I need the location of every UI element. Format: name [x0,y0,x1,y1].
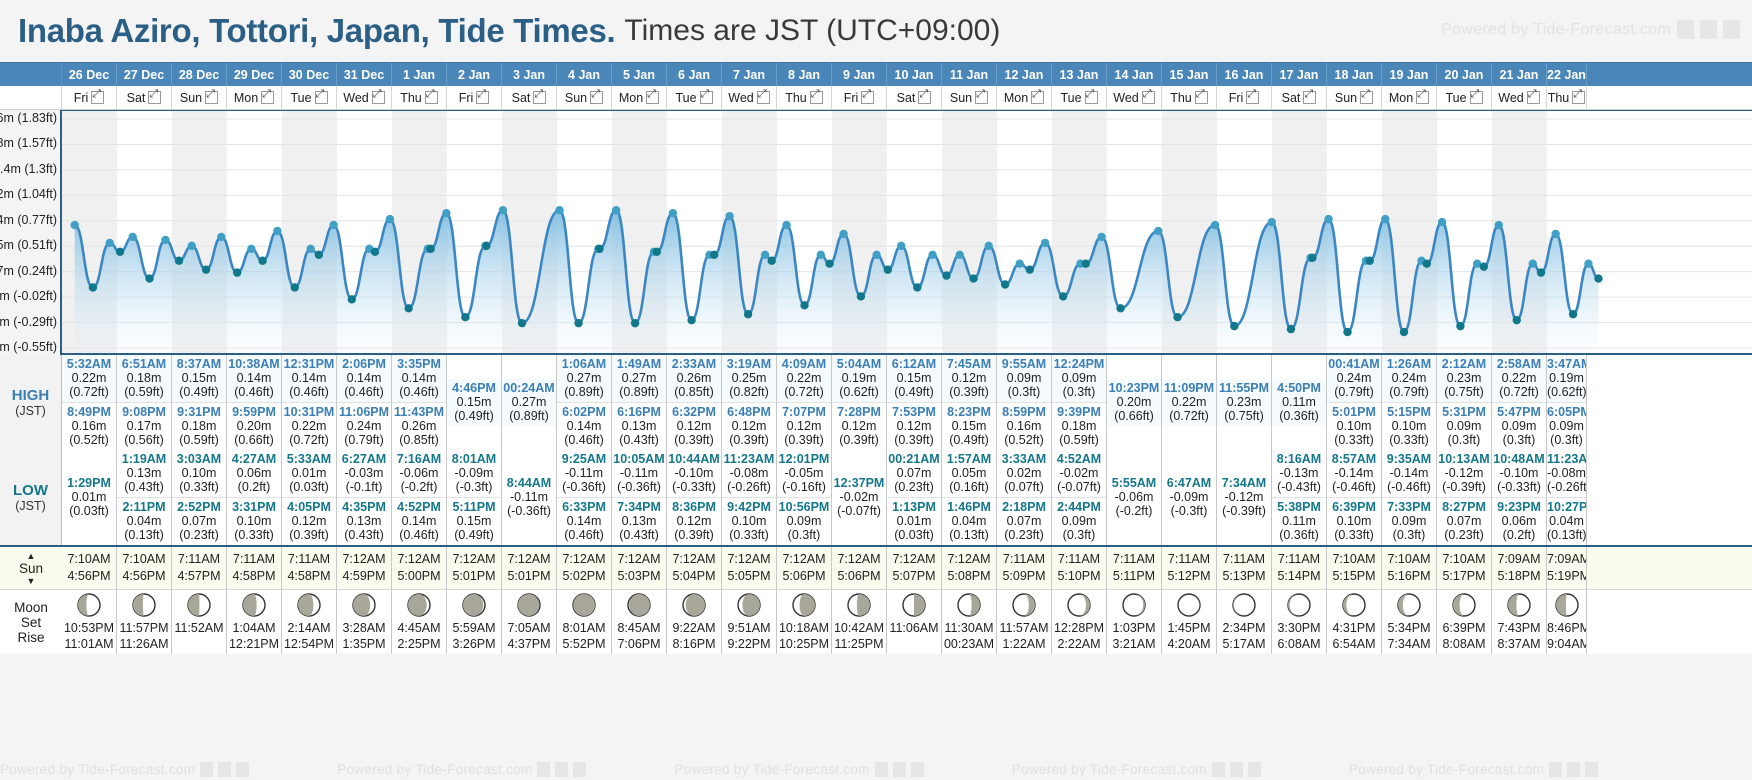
low-tide-event: 3:33AM 0.02m (0.07ft) [997,450,1051,497]
high-tide-event: 00:24AM 0.27m (0.89ft) [502,379,556,426]
high-tide-feet: (0.46ft) [557,433,611,447]
low-tide-event: 8:27PM 0.07m (0.23ft) [1437,497,1491,545]
date-cell[interactable]: 12 Jan [997,63,1052,86]
sunset-time: 5:04PM [667,568,721,585]
moonset-time: 9:22AM [667,620,721,636]
expand-icon[interactable] [1246,91,1259,104]
low-tide-column: 11:23AM -0.08m (-0.26ft)9:42PM 0.10m (0.… [722,450,777,545]
low-tide-time: 9:42PM [722,500,776,514]
high-tide-meters: 0.15m [447,395,501,409]
date-cell[interactable]: 18 Jan [1327,63,1382,86]
low-tide-meters: 0.09m [1052,514,1106,528]
high-tide-column: 1:26AM 0.24m (0.79ft)5:15PM 0.10m (0.33f… [1382,355,1437,450]
high-tide-meters: 0.14m [227,371,281,385]
sun-cell: 7:11AM5:11PM [1107,547,1162,589]
high-tide-meters: 0.09m [1547,419,1586,433]
low-tide-time: 3:03AM [172,452,226,466]
high-tide-time: 6:02PM [557,405,611,419]
low-tide-time: 11:23AM [722,452,776,466]
high-tide-column: 3:35PM 0.14m (0.46ft)11:43PM 0.26m (0.85… [392,355,447,450]
moon-phase-wrap [447,590,501,620]
low-tide-feet: (-0.46ft) [1327,480,1381,494]
date-cell[interactable]: 6 Jan [667,63,722,86]
moon-phase-icon [1176,592,1202,618]
low-tide-event: 7:34AM -0.12m (-0.39ft) [1217,474,1271,521]
low-tide-meters: 0.12m [282,514,336,528]
weekday-cell: Tue [1052,86,1107,109]
expand-icon[interactable] [1195,91,1208,104]
date-cell[interactable]: 11 Jan [942,63,997,86]
moonset-time: 7:05AM [502,620,556,636]
weekday-label: Tue [1445,91,1466,105]
low-tide-meters: -0.05m [777,466,831,480]
low-tide-column: 4:27AM 0.06m (0.2ft)3:31PM 0.10m (0.33ft… [227,450,282,545]
weekday-label: Mon [1389,91,1413,105]
weekday-cell: Wed [722,86,777,109]
date-cell[interactable]: 5 Jan [612,63,667,86]
low-tide-feet: (0.3ft) [1382,528,1436,542]
high-tide-section: HIGH (JST) 5:32AM 0.22m (0.72ft)8:49PM 0… [0,355,1752,450]
weekday-label: Fri [459,91,474,105]
sunset-time: 5:12PM [1162,568,1216,585]
date-cell[interactable]: 13 Jan [1052,63,1107,86]
low-tide-column: 00:21AM 0.07m (0.23ft)1:13PM 0.01m (0.03… [887,450,942,545]
expand-icon[interactable] [757,91,770,104]
weekday-cell: Mon [1382,86,1437,109]
weekday-cell: Tue [282,86,337,109]
expand-icon[interactable] [1572,91,1585,104]
low-tide-feet: (-0.33ft) [667,480,721,494]
high-tide-meters: 0.16m [997,419,1051,433]
moon-phase-icon [956,592,982,618]
high-tide-meters: 0.26m [667,371,721,385]
high-tide-feet: (0.72ft) [62,385,116,399]
date-cell[interactable]: 30 Dec [282,63,337,86]
expand-icon[interactable] [700,91,713,104]
expand-icon[interactable] [1470,91,1483,104]
sunrise-time: 7:12AM [667,551,721,568]
date-header-row: 26 Dec27 Dec28 Dec29 Dec30 Dec31 Dec1 Ja… [0,62,1752,86]
expand-icon[interactable] [1303,91,1316,104]
high-tide-time: 11:06PM [337,405,391,419]
low-tide-meters: 0.10m [722,514,776,528]
date-cell[interactable]: 27 Dec [117,63,172,86]
watermark-footer: Powered by Tide-Forecast.com Powered by … [0,758,1752,780]
high-tide-time: 10:23PM [1107,381,1161,395]
expand-icon[interactable] [861,91,874,104]
moon-phase-wrap [1272,590,1326,620]
weekday-label: Wed [1498,91,1523,105]
low-tide-column: 7:16AM -0.06m (-0.2ft)4:52PM 0.14m (0.46… [392,450,447,545]
low-tide-column: 9:35AM -0.14m (-0.46ft)7:33PM 0.09m (0.3… [1382,450,1437,545]
high-tide-meters: 0.09m [997,371,1051,385]
moon-phase-icon [846,592,872,618]
low-tide-column: 8:44AM -0.11m (-0.36ft) [502,450,557,545]
date-cell[interactable]: 26 Dec [62,63,117,86]
moon-cell: 11:52AM [172,590,227,654]
expand-icon[interactable] [372,91,385,104]
sunset-time: 5:07PM [887,568,941,585]
low-tide-meters: 0.10m [172,466,226,480]
moonrise-time: 1:35PM [337,636,391,652]
watermark-icon-2 [1700,20,1717,39]
high-tide-meters: 0.16m [62,419,116,433]
moonset-time: 5:59AM [447,620,501,636]
date-cell[interactable]: 19 Jan [1382,63,1437,86]
expand-icon[interactable] [1031,91,1044,104]
moonrise-time: 2:25PM [392,636,446,652]
moon-phase-wrap [997,590,1051,620]
moonrise-time: 2:22AM [1052,636,1106,652]
date-cell[interactable]: 4 Jan [557,63,612,86]
sun-label: Sun [0,547,62,589]
moon-phase-icon [76,592,102,618]
sunrise-time: 7:11AM [1107,551,1161,568]
low-tide-time: 4:27AM [227,452,281,466]
sunrise-time: 7:12AM [832,551,886,568]
moonset-time: 1:45PM [1162,620,1216,636]
weekday-cell: Mon [612,86,667,109]
high-tide-time: 8:37AM [172,357,226,371]
low-tide-event: 5:55AM -0.06m (-0.2ft) [1107,474,1161,521]
date-cell[interactable]: 10 Jan [887,63,942,86]
moon-label-text: Moon [14,600,48,615]
expand-icon[interactable] [810,91,823,104]
expand-icon[interactable] [91,91,104,104]
low-tide-time: 4:52AM [1052,452,1106,466]
date-cell[interactable]: 20 Jan [1437,63,1492,86]
low-tide-event: 1:19AM 0.13m (0.43ft) [117,450,171,497]
sunrise-time: 7:10AM [62,551,116,568]
sun-cell: 7:12AM5:04PM [667,547,722,589]
moon-phase-wrap [1547,590,1586,620]
low-tide-column: 1:19AM 0.13m (0.43ft)2:11PM 0.04m (0.13f… [117,450,172,545]
expand-icon[interactable] [646,91,659,104]
moonset-time: 12:28PM [1052,620,1106,636]
moonset-time: 10:53PM [62,620,116,636]
low-tide-time: 11:23AM [1547,452,1586,466]
date-cell[interactable]: 8 Jan [777,63,832,86]
moon-columns: 10:53PM 11:01AM 11:57PM 11:26AM 11:52AM … [62,590,1752,654]
moon-phase-icon [791,592,817,618]
moon-phase-wrap [722,590,776,620]
low-tide-meters: -0.02m [832,490,886,504]
sunrise-time: 7:09AM [1492,551,1546,568]
sunset-time: 5:01PM [447,568,501,585]
low-tide-time: 2:11PM [117,500,171,514]
low-tide-meters: -0.06m [392,466,446,480]
moon-cell: 11:06AM [887,590,942,654]
moon-cell: 9:51AM 9:22PM [722,590,777,654]
low-tide-feet: (-0.26ft) [1547,480,1586,494]
sun-cell: 7:12AM5:08PM [942,547,997,589]
high-tide-meters: 0.18m [172,419,226,433]
low-tide-feet: (0.23ft) [887,480,941,494]
low-tide-meters: -0.11m [557,466,611,480]
high-tide-meters: 0.22m [1162,395,1216,409]
high-tide-time: 5:32AM [62,357,116,371]
y-axis-tick: -0.09m (-0.29ft) [0,315,57,329]
moon-phase-wrap [557,590,611,620]
low-tide-event: 10:44AM -0.10m (-0.33ft) [667,450,721,497]
low-tide-meters: 0.15m [447,514,501,528]
moonrise-time: 10:25PM [777,636,831,652]
low-tide-feet: (0.46ft) [557,528,611,542]
expand-icon[interactable] [1085,91,1098,104]
high-tide-feet: (0.49ft) [447,409,501,423]
moonrise-time: 7:06PM [612,636,666,652]
moon-phase-wrap [117,590,171,620]
low-tide-event: 11:23AM -0.08m (-0.26ft) [1547,450,1586,497]
low-tide-feet: (-0.16ft) [777,480,831,494]
high-tide-time: 9:31PM [172,405,226,419]
moonset-label-text: Set [21,615,41,630]
sun-cell: 7:11AM4:57PM [172,547,227,589]
expand-icon[interactable] [1527,91,1540,104]
weekday-cell: Fri [62,86,117,109]
sun-cell: 7:12AM5:06PM [777,547,832,589]
moonrise-time: 6:54AM [1327,636,1381,652]
moon-phase-wrap [392,590,446,620]
high-tide-event: 6:48PM 0.12m (0.39ft) [722,402,776,450]
high-tide-event: 3:19AM 0.25m (0.82ft) [722,355,776,402]
high-tide-time: 4:46PM [447,381,501,395]
weekday-cell: Mon [997,86,1052,109]
high-tide-feet: (0.46ft) [227,385,281,399]
expand-icon[interactable] [1416,91,1429,104]
sun-cell: 7:12AM5:02PM [557,547,612,589]
high-tide-feet: (0.75ft) [1437,385,1491,399]
high-tide-time: 1:06AM [557,357,611,371]
low-tide-event: 8:57AM -0.14m (-0.46ft) [1327,450,1381,497]
high-tide-feet: (0.39ft) [887,433,941,447]
date-cell[interactable]: 14 Jan [1107,63,1162,86]
expand-icon[interactable] [533,91,546,104]
low-tide-event: 9:35AM -0.14m (-0.46ft) [1382,450,1436,497]
low-tide-event: 12:37PM -0.02m (-0.07ft) [832,474,886,521]
high-tide-column: 00:41AM 0.24m (0.79ft)5:01PM 0.10m (0.33… [1327,355,1382,450]
moon-label: Moon Set Rise [0,590,62,654]
high-tide-feet: (0.72ft) [282,433,336,447]
moon-cell: 3:30PM 6:08AM [1272,590,1327,654]
weekday-label: Sat [512,91,531,105]
low-tide-event: 4:52AM -0.02m (-0.07ft) [1052,450,1106,497]
date-header-corner [0,63,62,86]
high-tide-columns: 5:32AM 0.22m (0.72ft)8:49PM 0.16m (0.52f… [62,355,1752,450]
date-cell[interactable]: 2 Jan [447,63,502,86]
date-cell[interactable]: 28 Dec [172,63,227,86]
low-tide-meters: 0.05m [942,466,996,480]
high-tide-event: 5:04AM 0.19m (0.62ft) [832,355,886,402]
high-tide-time: 6:48PM [722,405,776,419]
expand-icon[interactable] [148,91,161,104]
wm-f4: Powered by Tide-Forecast.com [1012,762,1207,777]
low-tide-feet: (0.23ft) [172,528,226,542]
expand-icon[interactable] [315,91,328,104]
moon-cell: 5:34PM 7:34AM [1382,590,1437,654]
high-tide-column: 10:38AM 0.14m (0.46ft)9:59PM 0.20m (0.66… [227,355,282,450]
high-tide-meters: 0.18m [117,371,171,385]
expand-icon[interactable] [425,91,438,104]
low-tide-time: 6:27AM [337,452,391,466]
moon-cell: 4:31PM 6:54AM [1327,590,1382,654]
date-cell[interactable]: 31 Dec [337,63,392,86]
moonset-time: 1:04AM [227,620,281,636]
expand-icon[interactable] [261,91,274,104]
expand-icon[interactable] [205,91,218,104]
moon-phase-icon [186,592,212,618]
low-tide-time: 10:05AM [612,452,666,466]
high-tide-event: 6:02PM 0.14m (0.46ft) [557,402,611,450]
low-tide-column: 10:05AM -0.11m (-0.36ft)7:34PM 0.13m (0.… [612,450,667,545]
low-tide-feet: (0.43ft) [612,528,666,542]
high-tide-event: 4:50PM 0.11m (0.36ft) [1272,379,1326,426]
sun-cell: 7:12AM5:06PM [832,547,887,589]
sun-cell: 7:12AM5:03PM [612,547,667,589]
sun-cell: 7:10AM5:17PM [1437,547,1492,589]
low-tide-feet: (0.3ft) [777,528,831,542]
high-tide-time: 6:12AM [887,357,941,371]
high-tide-feet: (0.79ft) [1382,385,1436,399]
date-cell[interactable]: 3 Jan [502,63,557,86]
high-tide-meters: 0.23m [1437,371,1491,385]
date-cell[interactable]: 7 Jan [722,63,777,86]
low-tide-time: 7:34AM [1217,476,1271,490]
expand-icon[interactable] [476,91,489,104]
high-tide-time: 00:24AM [502,381,556,395]
high-tide-column: 11:09PM 0.22m (0.72ft) [1162,355,1217,450]
watermark-block: Powered by Tide-Forecast.com [0,762,249,777]
sun-cell: 7:11AM5:09PM [997,547,1052,589]
weekday-cell: Wed [1107,86,1162,109]
low-tide-column: 12:01PM -0.05m (-0.16ft)10:56PM 0.09m (0… [777,450,832,545]
moonrise-time: 12:54PM [282,636,336,652]
low-tide-time: 5:33AM [282,452,336,466]
sunset-time: 5:02PM [557,568,611,585]
sun-cell: 7:12AM4:59PM [337,547,392,589]
date-cell[interactable]: 16 Jan [1217,63,1272,86]
high-tide-event: 1:26AM 0.24m (0.79ft) [1382,355,1436,402]
expand-icon[interactable] [918,91,931,104]
moonset-time: 1:03PM [1107,620,1161,636]
watermark-block: Powered by Tide-Forecast.com [1349,762,1598,777]
wm-f1: Powered by Tide-Forecast.com [0,762,195,777]
moonset-time: 8:01AM [557,620,611,636]
high-tide-column: 4:50PM 0.11m (0.36ft) [1272,355,1327,450]
moonrise-time: 9:22PM [722,636,776,652]
date-cell[interactable]: 9 Jan [832,63,887,86]
low-tide-meters: 0.01m [62,490,116,504]
watermark-text: Powered by Tide-Forecast.com [1441,21,1671,39]
sunrise-time: 7:11AM [282,551,336,568]
high-tide-column: 4:09AM 0.22m (0.72ft)7:07PM 0.12m (0.39f… [777,355,832,450]
weekday-label: Tue [1060,91,1081,105]
page-subtitle: Times are JST (UTC+09:00) [624,14,1000,48]
sunset-time: 4:59PM [337,568,391,585]
moon-phase-icon [681,592,707,618]
low-tide-meters: 0.07m [172,514,226,528]
y-axis-tick: 0.24m (0.77ft) [0,213,57,227]
sunrise-time: 7:12AM [557,551,611,568]
moonrise-time: 5:52PM [557,636,611,652]
high-tide-feet: (0.72ft) [1162,409,1216,423]
date-cell[interactable]: 21 Jan [1492,63,1547,86]
low-tide-meters: -0.11m [502,490,556,504]
sunset-time: 5:15PM [1327,568,1381,585]
low-tide-time: 8:36PM [667,500,721,514]
moon-phase-wrap [777,590,831,620]
moonrise-time: 1:22AM [997,636,1051,652]
moon-cell: 1:45PM 4:20AM [1162,590,1217,654]
moonrise-time: 6:08AM [1272,636,1326,652]
low-tide-event: 9:25AM -0.11m (-0.36ft) [557,450,611,497]
date-cell[interactable]: 15 Jan [1162,63,1217,86]
moonset-time: 10:42AM [832,620,886,636]
moon-cell: 12:28PM 2:22AM [1052,590,1107,654]
sunset-time: 5:14PM [1272,568,1326,585]
low-tide-event: 2:44PM 0.09m (0.3ft) [1052,497,1106,545]
high-tide-event: 2:06PM 0.14m (0.46ft) [337,355,391,402]
low-tide-meters: 0.06m [227,466,281,480]
moon-phase-wrap [887,590,941,620]
low-tide-feet: (-0.33ft) [1492,480,1546,494]
high-tide-time: 5:04AM [832,357,886,371]
high-tide-feet: (0.39ft) [832,433,886,447]
low-tide-meters: -0.11m [612,466,666,480]
high-tide-event: 6:51AM 0.18m (0.59ft) [117,355,171,402]
low-tide-time: 8:27PM [1437,500,1491,514]
expand-icon[interactable] [1360,91,1373,104]
date-cell[interactable]: 22 Jan [1547,63,1587,86]
low-tide-event: 1:29PM 0.01m (0.03ft) [62,474,116,521]
moonset-time: 10:18AM [777,620,831,636]
moonrise-time: 00:23AM [942,636,996,652]
watermark-icon-1 [1677,20,1694,39]
low-tide-column: 5:33AM 0.01m (0.03ft)4:05PM 0.12m (0.39f… [282,450,337,545]
date-cell[interactable]: 1 Jan [392,63,447,86]
low-tide-time: 1:13PM [887,500,941,514]
low-tide-event: 7:16AM -0.06m (-0.2ft) [392,450,446,497]
date-cell[interactable]: 17 Jan [1272,63,1327,86]
low-tide-section: LOW (JST) 1:29PM 0.01m (0.03ft)1:19AM 0.… [0,450,1752,545]
low-tide-time: 12:37PM [832,476,886,490]
date-cell[interactable]: 29 Dec [227,63,282,86]
high-tide-meters: 0.19m [832,371,886,385]
high-tide-event: 00:41AM 0.24m (0.79ft) [1327,355,1381,402]
moon-phase-icon [1286,592,1312,618]
high-tide-time: 8:59PM [997,405,1051,419]
weekday-cell: Fri [1217,86,1272,109]
sun-cell: 7:10AM4:56PM [117,547,172,589]
high-tide-feet: (0.75ft) [1217,409,1271,423]
low-tide-event: 1:57AM 0.05m (0.16ft) [942,450,996,497]
high-tide-meters: 0.09m [1437,419,1491,433]
expand-icon[interactable] [975,91,988,104]
high-tide-feet: (0.85ft) [392,433,446,447]
low-tide-feet: (0.13ft) [942,528,996,542]
low-tide-feet: (0.23ft) [997,528,1051,542]
low-tide-time: 6:39PM [1327,500,1381,514]
weekday-label: Mon [234,91,258,105]
high-tide-event: 5:47PM 0.09m (0.3ft) [1492,402,1546,450]
expand-icon[interactable] [1142,91,1155,104]
weekday-cell: Sun [172,86,227,109]
tide-plot-area [62,110,1752,355]
expand-icon[interactable] [590,91,603,104]
high-tide-column: 9:55AM 0.09m (0.3ft)8:59PM 0.16m (0.52ft… [997,355,1052,450]
high-tide-meters: 0.25m [722,371,776,385]
high-tide-event: 6:16PM 0.13m (0.43ft) [612,402,666,450]
